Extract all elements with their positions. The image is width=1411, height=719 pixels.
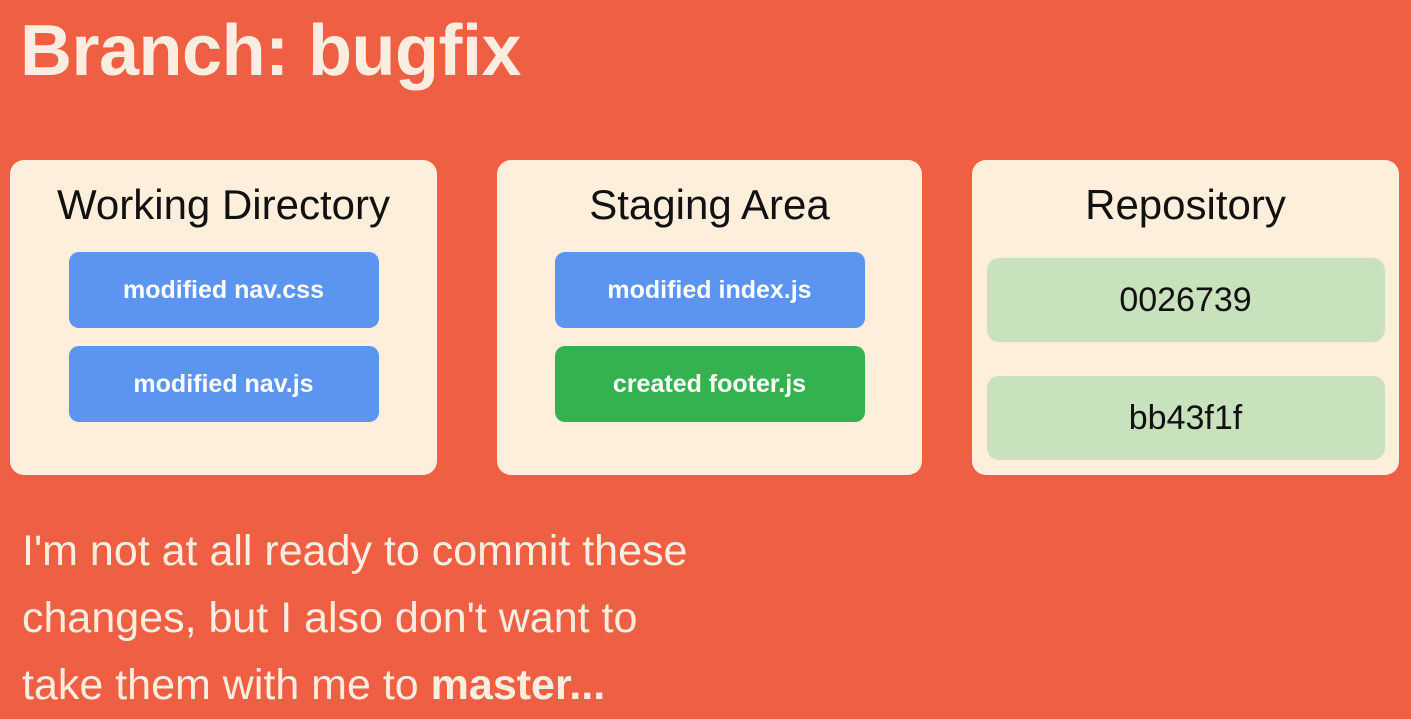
caption-line-2: changes, but I also don't want to (22, 585, 922, 652)
caption-line-3: take them with me to master... (22, 652, 922, 719)
file-chip[interactable]: created footer.js (555, 346, 865, 422)
card-title-repository: Repository (972, 184, 1399, 226)
card-working-directory: Working Directory modified nav.css modif… (10, 160, 437, 475)
file-chip[interactable]: modified nav.js (69, 346, 379, 422)
commit-chip[interactable]: 0026739 (987, 258, 1385, 342)
caption-line-3-prefix: take them with me to (22, 661, 431, 709)
page-title: Branch: bugfix (20, 12, 1020, 91)
file-chip[interactable]: modified nav.css (69, 252, 379, 328)
chip-list-repository: 0026739 bb43f1f (972, 258, 1399, 460)
chip-list-working-directory: modified nav.css modified nav.js (10, 252, 437, 422)
card-repository: Repository 0026739 bb43f1f (972, 160, 1399, 475)
caption-text: I'm not at all ready to commit these cha… (22, 518, 922, 719)
slide-root: Branch: bugfix Working Directory modifie… (0, 0, 1411, 719)
git-areas-row: Working Directory modified nav.css modif… (0, 160, 1411, 475)
caption-line-3-emphasis: master... (431, 661, 606, 709)
card-title-staging-area: Staging Area (497, 184, 922, 226)
caption-line-1: I'm not at all ready to commit these (22, 518, 922, 585)
chip-list-staging-area: modified index.js created footer.js (497, 252, 922, 422)
card-staging-area: Staging Area modified index.js created f… (497, 160, 922, 475)
card-title-working-directory: Working Directory (10, 184, 437, 226)
commit-chip[interactable]: bb43f1f (987, 376, 1385, 460)
file-chip[interactable]: modified index.js (555, 252, 865, 328)
